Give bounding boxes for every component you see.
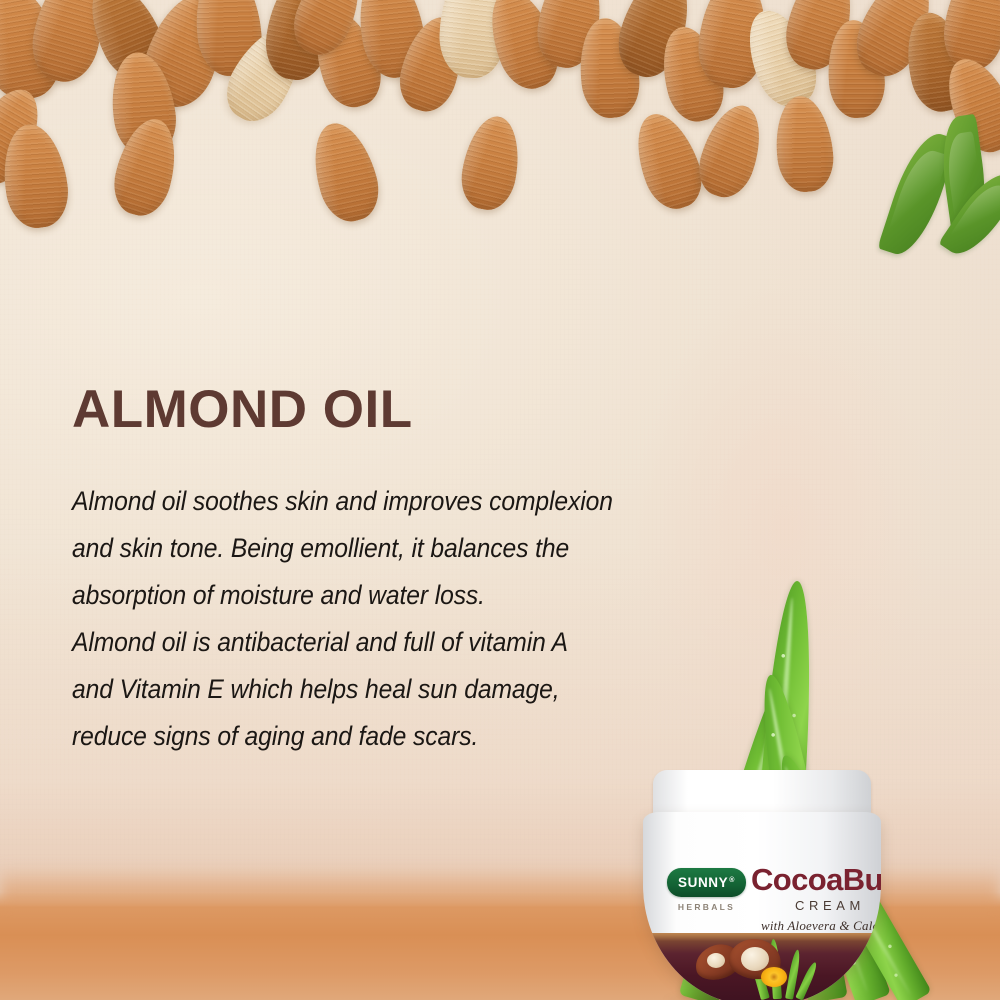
cocoa-pulp <box>707 953 725 968</box>
description-block: Almond oil soothes skin and improves com… <box>72 478 772 760</box>
product-type: CREAM <box>795 898 865 913</box>
description-line: reduce signs of aging and fade scars. <box>72 713 723 760</box>
brand-subtitle: HERBALS <box>667 902 746 912</box>
brand-name: SUNNY® <box>678 875 735 890</box>
jar-body: SUNNY® HERBALS CocoaButter CREAM with Al… <box>643 812 881 1000</box>
product-name: CocoaButter <box>751 862 881 898</box>
calendula-flower <box>761 967 787 987</box>
cocoa-pulp <box>741 947 769 971</box>
almond-scatter-border <box>0 0 1000 240</box>
almond-nut <box>303 116 386 228</box>
jar-lid <box>653 770 871 818</box>
almond-nut <box>0 120 73 232</box>
product-tagline: with Aloevera & Calendula <box>761 918 881 934</box>
registered-mark-icon: ® <box>729 877 735 884</box>
description-line: and skin tone. Being emollient, it balan… <box>72 525 723 572</box>
almond-nut <box>456 112 526 214</box>
description-line: Almond oil soothes skin and improves com… <box>72 478 723 525</box>
almond-nut <box>771 93 837 194</box>
product-banner: ALMOND OIL Almond oil soothes skin and i… <box>0 0 1000 1000</box>
product-jar: SUNNY® HERBALS CocoaButter CREAM with Al… <box>639 770 885 1000</box>
page-title: ALMOND OIL <box>72 383 413 436</box>
jar-art-aloe-blade <box>795 961 819 1000</box>
brand-badge: SUNNY® <box>667 868 746 897</box>
description-line: absorption of moisture and water loss. <box>72 572 723 619</box>
jar-base-band <box>643 933 881 1000</box>
description-line: Almond oil is antibacterial and full of … <box>72 619 723 666</box>
description-line: and Vitamin E which helps heal sun damag… <box>72 666 723 713</box>
